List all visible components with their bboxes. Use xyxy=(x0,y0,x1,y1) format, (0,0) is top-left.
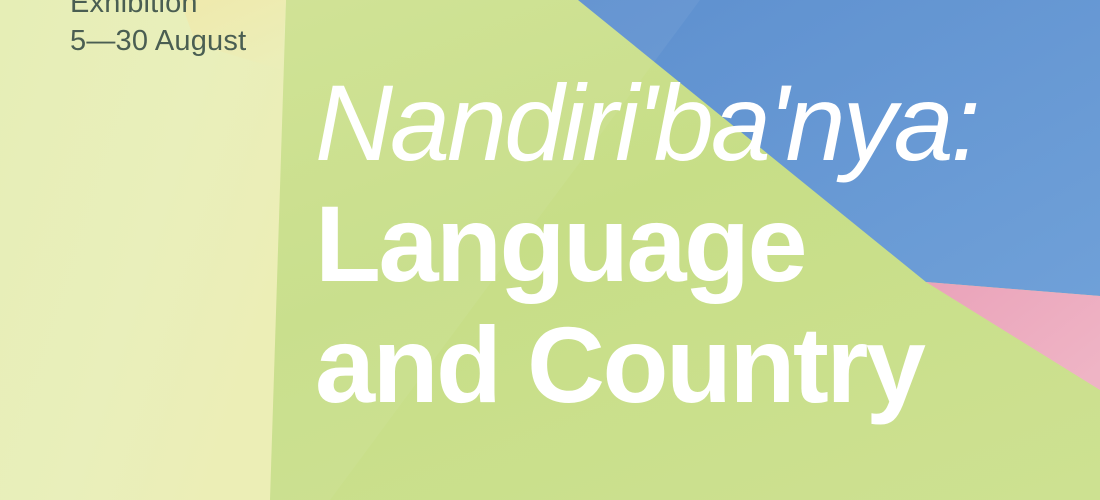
title-line-1: Nandiri'ba'nya: xyxy=(315,62,978,183)
meta-block: Exhibition 5—30 August xyxy=(70,0,246,60)
kicker-label: Exhibition xyxy=(70,0,246,22)
page-title: Nandiri'ba'nya: Language and Country xyxy=(315,62,978,425)
poster-canvas: Exhibition 5—30 August Nandiri'ba'nya: L… xyxy=(0,0,1100,500)
shape-pale-panel xyxy=(0,0,286,500)
dates-label: 5—30 August xyxy=(70,22,246,60)
title-line-2: Language xyxy=(315,183,978,304)
title-line-3: and Country xyxy=(315,304,978,425)
